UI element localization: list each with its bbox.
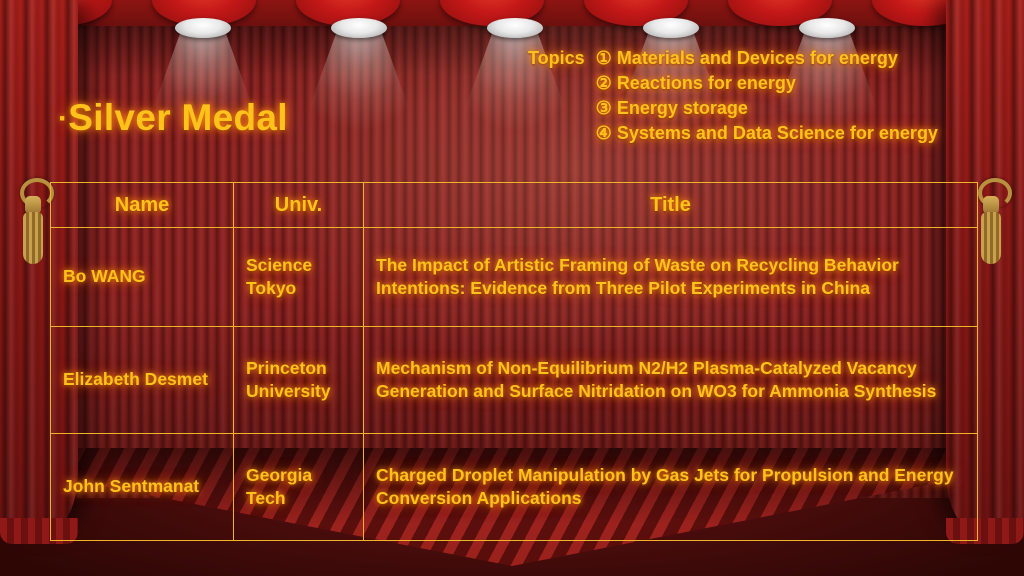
cell-univ: Georgia Tech (234, 434, 364, 541)
cell-title: Charged Droplet Manipulation by Gas Jets… (364, 434, 978, 541)
title-bullet: · (58, 102, 68, 135)
cell-title: Mechanism of Non-Equilibrium N2/H2 Plasm… (364, 327, 978, 434)
spotlight-lamp-icon (799, 18, 855, 38)
page-title: ·Silver Medal (58, 97, 288, 139)
spotlight-lamp-icon (175, 18, 231, 38)
stage-slide: ·Silver Medal Topics ①Materials and Devi… (0, 0, 1024, 576)
topics-label: Topics (528, 46, 585, 71)
column-header-univ: Univ. (234, 183, 364, 228)
cell-name: Bo WANG (51, 228, 234, 327)
topic-number-3: ③ (596, 98, 612, 118)
topic-item-1: ①Materials and Devices for energy (596, 46, 938, 71)
column-header-title: Title (364, 183, 978, 228)
topic-number-4: ④ (596, 123, 612, 143)
table-row: Elizabeth Desmet Princeton University Me… (51, 327, 978, 434)
cell-name: Elizabeth Desmet (51, 327, 234, 434)
topic-text-2: Reactions for energy (617, 73, 796, 93)
cell-name: John Sentmanat (51, 434, 234, 541)
topic-text-1: Materials and Devices for energy (617, 48, 898, 68)
curtain-tassel-right (974, 178, 1008, 286)
table-header-row: Name Univ. Title (51, 183, 978, 228)
topic-text-4: Systems and Data Science for energy (617, 123, 938, 143)
tassel-skirt (981, 212, 1001, 264)
table-row: John Sentmanat Georgia Tech Charged Drop… (51, 434, 978, 541)
curtain-tassel-left (16, 178, 50, 286)
topic-number-1: ① (596, 48, 612, 68)
topic-number-2: ② (596, 73, 612, 93)
table-row: Bo WANG Science Tokyo The Impact of Arti… (51, 228, 978, 327)
spotlight-lamp-icon (643, 18, 699, 38)
spotlight-lamp-icon (487, 18, 543, 38)
topic-item-3: ③Energy storage (596, 96, 938, 121)
medal-table: Name Univ. Title Bo WANG Science Tokyo T… (50, 182, 978, 541)
column-header-name: Name (51, 183, 234, 228)
cell-title: The Impact of Artistic Framing of Waste … (364, 228, 978, 327)
topic-item-2: ②Reactions for energy (596, 71, 938, 96)
topic-item-4: ④Systems and Data Science for energy (596, 121, 938, 146)
topics-block: Topics ①Materials and Devices for energy… (528, 46, 938, 146)
topics-list: ①Materials and Devices for energy ②React… (596, 46, 938, 146)
cell-univ: Princeton University (234, 327, 364, 434)
title-text: Silver Medal (68, 97, 288, 138)
topic-text-3: Energy storage (617, 98, 748, 118)
tassel-skirt (23, 212, 43, 264)
cell-univ: Science Tokyo (234, 228, 364, 327)
spotlight-lamp-icon (331, 18, 387, 38)
